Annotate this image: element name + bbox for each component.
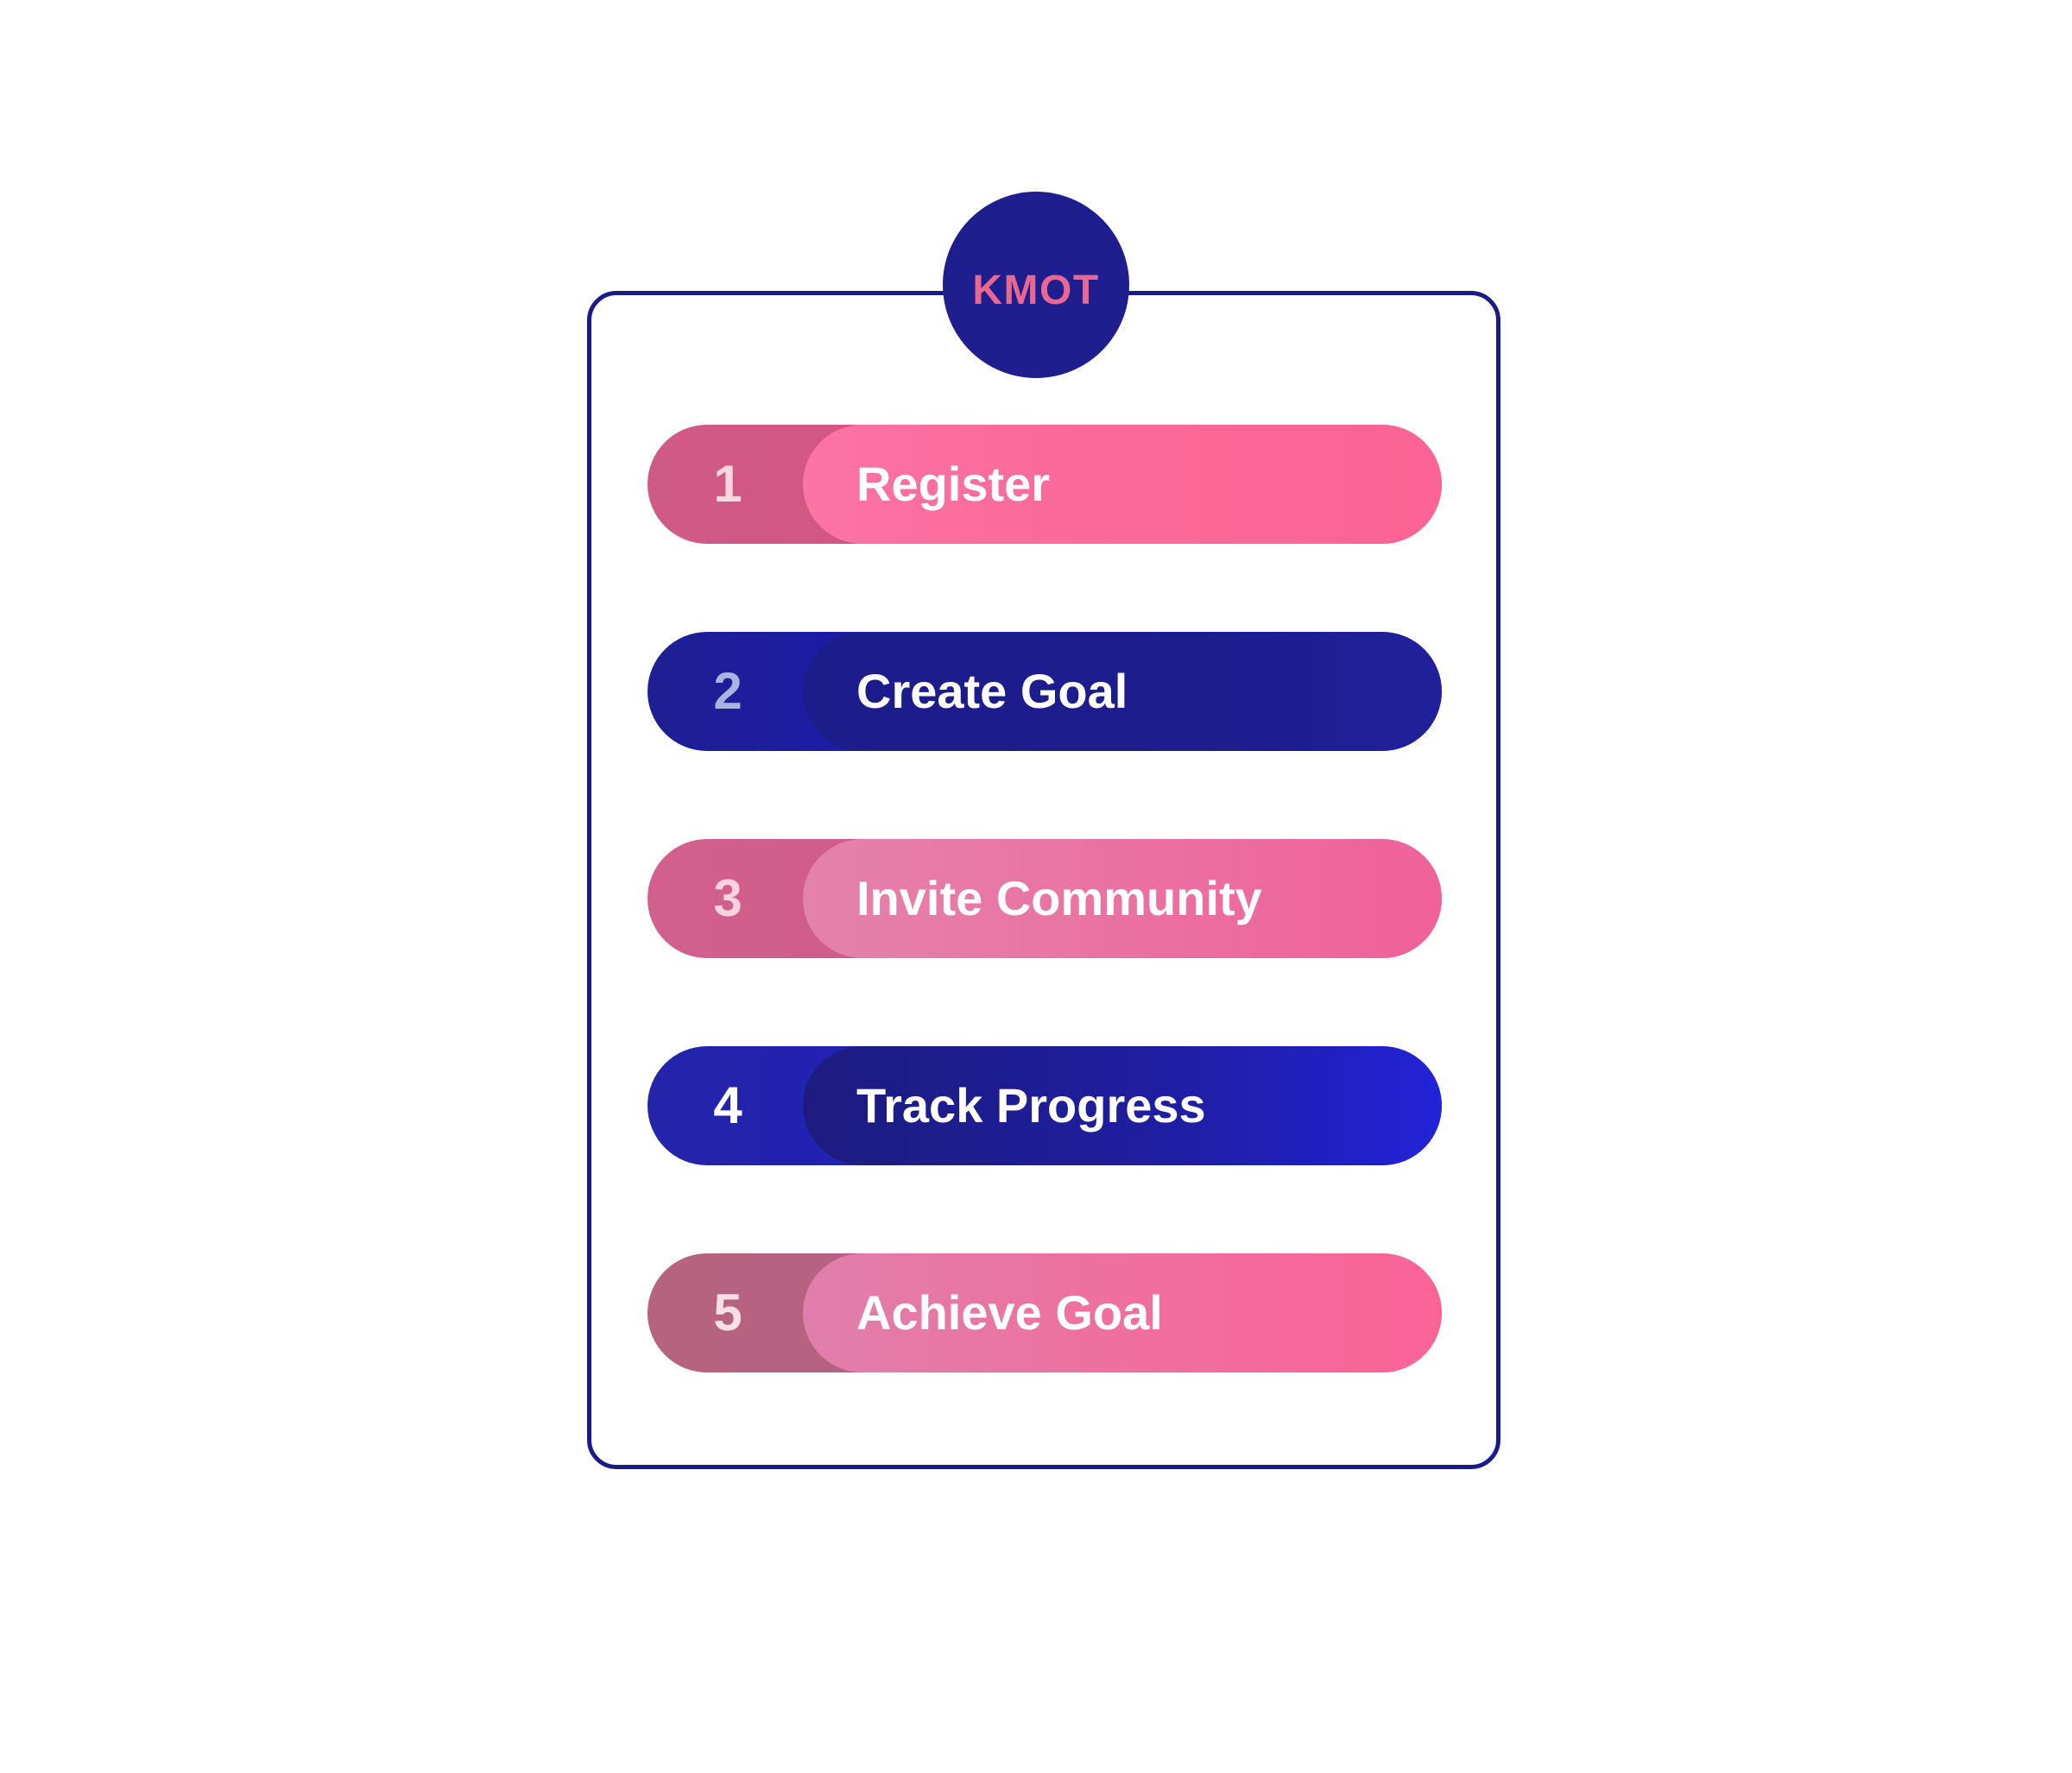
step-label: Register: [803, 460, 1050, 508]
step-label-segment: Register: [803, 425, 1442, 544]
step-item-4[interactable]: Track Progress 4: [647, 1046, 1442, 1165]
step-item-2[interactable]: Create Goal 2: [647, 632, 1442, 751]
step-item-5[interactable]: Achieve Goal 5: [647, 1253, 1442, 1372]
step-number: 1: [647, 425, 808, 544]
step-label: Create Goal: [803, 667, 1128, 716]
step-label-segment: Achieve Goal: [803, 1253, 1442, 1372]
step-label: Achieve Goal: [803, 1289, 1163, 1337]
steps-list: Register 1 Create Goal 2 Invite Communit…: [647, 425, 1442, 1372]
step-number: 5: [647, 1253, 808, 1372]
step-label-segment: Track Progress: [803, 1046, 1442, 1165]
step-label-segment: Invite Community: [803, 839, 1442, 958]
step-number: 2: [647, 632, 808, 751]
infographic-canvas: KMOT Register 1 Create Goal 2 Invite Com…: [0, 0, 2072, 1773]
logo-text: KMOT: [972, 270, 1099, 312]
step-label: Invite Community: [803, 874, 1262, 923]
logo-badge: KMOT: [943, 192, 1129, 378]
step-item-3[interactable]: Invite Community 3: [647, 839, 1442, 958]
step-item-1[interactable]: Register 1: [647, 425, 1442, 544]
step-number: 3: [647, 839, 808, 958]
step-label: Track Progress: [803, 1082, 1206, 1130]
step-number: 4: [647, 1046, 808, 1165]
step-label-segment: Create Goal: [803, 632, 1442, 751]
